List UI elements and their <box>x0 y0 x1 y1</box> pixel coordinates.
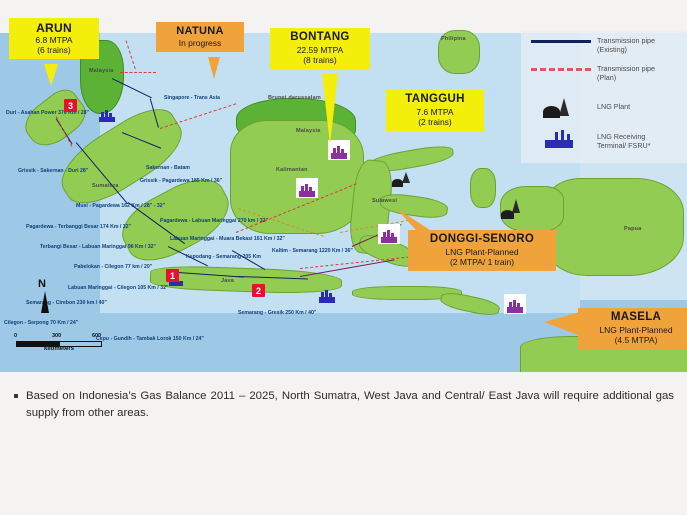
callout-bontang-line2: (8 trains) <box>277 55 363 65</box>
map-marker-1[interactable]: 1 <box>166 269 179 282</box>
callout-natuna-title: NATUNA <box>163 25 237 38</box>
callout-bontang-tail <box>322 73 338 145</box>
callout-tangguh-title: TANGGUH <box>393 93 477 107</box>
callout-masela[interactable]: MASELA LNG Plant-Planned (4.5 MTPA) <box>578 308 687 349</box>
pipe-label-labuan-cilegon: Labuan Maringgai - Cilegon 105 Km / 32" <box>68 285 168 292</box>
pipe-label-cepu-gundih: Cepu - Gundih - Tambak Lorok 150 Km / 24… <box>96 336 204 343</box>
dashed-line-icon <box>531 68 591 71</box>
region-label-philipina: Philipina <box>441 36 466 42</box>
legend-item-transmission-existing: Transmission pipe (Existing) <box>527 36 655 54</box>
callout-bontang[interactable]: BONTANG 22.59 MTPA (8 trains) <box>270 28 370 69</box>
dome-tank-icon-2 <box>392 179 403 187</box>
scale-bar: 0 300 600 kilometers <box>16 333 102 352</box>
callout-donggi-line1: LNG Plant-Planned <box>415 247 549 257</box>
bullet-statement: Based on Indonesia’s Gas Balance 2011 – … <box>14 388 674 421</box>
callout-donggi-title: DONGGI-SENORO <box>415 233 549 247</box>
lng-site-masela <box>504 294 526 314</box>
scale-tick-600: 600 <box>92 333 101 339</box>
callout-donggi-line2: (2 MTPA/ 1 train) <box>415 257 549 267</box>
legend-item-lng-plant: LNG Plant <box>527 96 630 118</box>
callout-masela-title: MASELA <box>585 311 687 325</box>
pipe-label-pagardewa-terbanggi: Pagardewa - Terbanggi Besar 174 Km / 32" <box>26 224 131 231</box>
callout-arun-tail <box>44 64 58 86</box>
region-label-brunei: Brunei darussalam <box>268 95 321 101</box>
legend-label-3: LNG Receiving Terminal/ FSRU* <box>597 130 651 150</box>
pipe-label-pagardewa-labuan: Pagardewa - Labuan Maringgai 270 km / 32… <box>160 218 268 225</box>
callout-arun[interactable]: ARUN 6.8 MTPA (6 trains) <box>9 18 99 59</box>
region-label-malaysia-1: Malaysia <box>89 68 114 74</box>
region-label-java: Java <box>221 278 234 284</box>
bottom-section: Based on Indonesia’s Gas Balance 2011 – … <box>0 372 687 515</box>
region-label-kalimantan: Kalimantan <box>276 167 308 173</box>
compass-north-label: N <box>38 279 49 290</box>
callout-bontang-line1: 22.59 MTPA <box>277 45 363 55</box>
callout-masela-pointer <box>540 300 582 344</box>
callout-arun-line1: 6.8 MTPA <box>16 35 92 45</box>
indonesia-gas-map: Malaysia Sumatera Kalimantan Sulawesi Ja… <box>0 0 687 372</box>
scale-tick-0: 0 <box>14 333 17 339</box>
callout-masela-line2: (4.5 MTPA) <box>585 335 687 345</box>
scale-segments <box>16 341 102 345</box>
pipe-label-labuan-bekasi: Labuan Maringgai - Muara Bekasi 161 Km /… <box>170 236 285 243</box>
compass-rose: N <box>38 279 49 313</box>
lng-site-kalimantan-south <box>296 178 318 198</box>
drill-tower-icon-2 <box>402 172 410 183</box>
pipe-label-singapore-transasia: Singapore - Trans Asia <box>164 95 220 102</box>
pipe-label-semarang-gresik: Semarang - Gresik 250 Km / 40" <box>238 310 316 317</box>
pipe-label-musi-pagardewa: Musi - Pagardewa 162 Km / 28" - 32" <box>76 203 165 210</box>
pipe-label-grissik-pagardewa: Grissik - Pagardewa 185 Km / 36" <box>140 178 222 185</box>
map-legend: Transmission pipe (Existing) Transmissio… <box>521 30 687 163</box>
pipe-label-grissik-sakernan: Grissik - Sakernan - Duri 28" <box>18 168 88 175</box>
pipe-label-terbanggi-labuan: Terbangi Besar - Labuan Maringgai 96 Km … <box>40 244 156 251</box>
pipe-plan-natuna-south <box>120 72 156 73</box>
callout-donggi-pointer <box>392 206 432 250</box>
map-marker-3[interactable]: 3 <box>64 99 77 112</box>
scale-seg-1 <box>16 341 59 347</box>
legend-item-transmission-plan: Transmission pipe (Plan) <box>527 64 655 82</box>
land-kalimantan <box>230 120 364 234</box>
callout-natuna[interactable]: NATUNA In progress <box>156 22 244 52</box>
pipe-label-kepodang-semarang: Kepodang - Semarang 205 Km <box>186 254 261 261</box>
legend-label-0: Transmission pipe (Existing) <box>597 36 655 54</box>
compass-arrow-icon <box>41 291 49 313</box>
region-label-malaysia-2: Malaysia <box>296 128 321 134</box>
callout-masela-line1: LNG Plant-Planned <box>585 325 687 335</box>
slide-root: Malaysia Sumatera Kalimantan Sulawesi Ja… <box>0 0 687 515</box>
lng-site-arun <box>96 104 118 123</box>
drill-tower-icon <box>512 199 520 213</box>
bullet-square-icon <box>14 394 18 398</box>
lng-site-sulawesi-ops <box>392 170 412 187</box>
dome-tank-icon <box>501 210 514 219</box>
land-papua <box>546 178 684 276</box>
map-marker-2[interactable]: 2 <box>252 284 265 297</box>
legend-label-1: Transmission pipe (Plan) <box>597 64 655 82</box>
bullet-text: Based on Indonesia’s Gas Balance 2011 – … <box>26 388 674 421</box>
pipe-label-pabelokan-cilegon: Pabelokan - Cilegon 77 km / 20" <box>74 264 152 271</box>
lng-plant-icon <box>531 96 591 118</box>
scale-ticks: 0 300 600 <box>16 333 102 341</box>
callout-tangguh-line1: 7.6 MTPA <box>393 107 477 117</box>
pipe-label-sakernan-batam: Sakernan - Batam <box>146 165 190 172</box>
lng-site-java-east <box>316 284 338 304</box>
callout-bontang-title: BONTANG <box>277 31 363 45</box>
legend-item-lng-terminal: LNG Receiving Terminal/ FSRU* <box>527 130 651 150</box>
callout-tangguh[interactable]: TANGGUH 7.6 MTPA (2 trains) <box>386 90 484 131</box>
legend-label-2: LNG Plant <box>597 96 630 111</box>
callout-natuna-line1: In progress <box>163 38 237 48</box>
scale-tick-300: 300 <box>52 333 61 339</box>
pipe-label-cilegon-serpong: Cilegon - Serpong 70 Km / 24" <box>4 320 78 327</box>
callout-natuna-tail <box>208 57 220 79</box>
region-label-papua: Papua <box>624 226 642 232</box>
scale-seg-2 <box>59 341 102 347</box>
callout-arun-line2: (6 trains) <box>16 45 92 55</box>
pipe-label-kaltim-semarang: Kaltim - Semarang 1220 Km / 36" <box>272 248 353 255</box>
callout-tangguh-line2: (2 trains) <box>393 117 477 127</box>
solid-line-icon <box>531 40 591 43</box>
region-label-sulawesi: Sulawesi <box>372 198 397 204</box>
lng-terminal-icon <box>531 130 591 148</box>
callout-arun-title: ARUN <box>16 21 92 35</box>
